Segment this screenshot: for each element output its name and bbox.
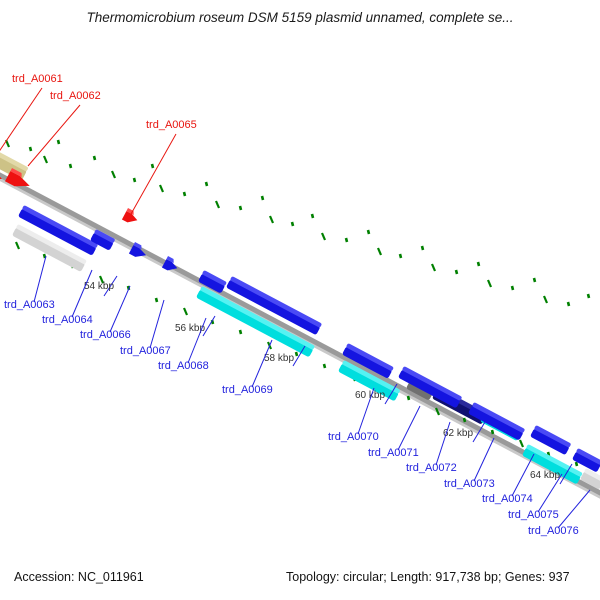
trna-tick[interactable]	[422, 246, 423, 250]
trna-tick[interactable]	[112, 171, 115, 178]
trna-tick[interactable]	[464, 418, 465, 422]
gene-label[interactable]: trd_A0070	[328, 431, 379, 443]
ruler-tick-label: 54 kbp	[84, 281, 114, 292]
gene-label[interactable]: trd_A0071	[368, 447, 419, 459]
trna-tick[interactable]	[488, 280, 491, 287]
gene-label-leader	[150, 300, 164, 348]
trna-tick[interactable]	[262, 196, 263, 200]
gene-label-leader	[28, 105, 80, 166]
trna-tick[interactable]	[492, 430, 493, 434]
trna-tick[interactable]	[346, 238, 347, 242]
topology-label: Topology: circular; Length: 917,738 bp; …	[286, 570, 570, 584]
gene-label[interactable]: trd_A0073	[444, 478, 495, 490]
gene-label-leader	[110, 286, 130, 332]
trna-tick[interactable]	[312, 214, 313, 218]
ruler-tick-label: 64 kbp	[530, 470, 560, 481]
gene-label[interactable]: trd_A0076	[528, 525, 579, 537]
genome-map-canvas[interactable]: 54 kbp56 kbp58 kbp60 kbp62 kbp64 kbptrd_…	[0, 44, 600, 549]
trna-tick[interactable]	[432, 264, 435, 271]
accession-label: Accession: NC_011961	[14, 570, 144, 584]
title-bar: Thermomicrobium roseum DSM 5159 plasmid …	[0, 0, 600, 44]
trna-tick[interactable]	[534, 278, 535, 282]
genome-map-svg[interactable]: 54 kbp56 kbp58 kbp60 kbp62 kbp64 kbptrd_…	[0, 44, 600, 549]
trna-tick[interactable]	[322, 233, 325, 240]
ruler-tick-label: 56 kbp	[175, 323, 205, 334]
trna-tick[interactable]	[292, 222, 293, 226]
gene-label[interactable]: trd_A0066	[80, 329, 131, 341]
gene-label[interactable]: trd_A0061	[12, 73, 63, 85]
trna-tick[interactable]	[588, 294, 589, 298]
gene-label-leader	[34, 256, 46, 302]
gene-label[interactable]: trd_A0075	[508, 509, 559, 521]
trna-tick[interactable]	[184, 308, 187, 315]
trna-tick[interactable]	[456, 270, 457, 274]
trna-tick[interactable]	[296, 352, 297, 356]
gene-feature[interactable]	[572, 448, 600, 473]
trna-tick[interactable]	[544, 296, 547, 303]
trna-tick[interactable]	[478, 262, 479, 266]
gene-label[interactable]: trd_A0065	[146, 119, 197, 131]
gene-label[interactable]: trd_A0064	[42, 314, 93, 326]
trna-tick[interactable]	[368, 230, 369, 234]
gene-label[interactable]: trd_A0067	[120, 345, 171, 357]
trna-tick[interactable]	[270, 216, 273, 223]
trna-tick[interactable]	[568, 302, 569, 306]
gene-label-leader	[398, 406, 420, 450]
gene-label-leader	[474, 438, 494, 481]
trna-tick[interactable]	[156, 298, 157, 302]
trna-tick[interactable]	[134, 178, 135, 182]
trna-tick[interactable]	[408, 396, 409, 400]
status-bar: Accession: NC_011961 Topology: circular;…	[0, 549, 600, 600]
trna-tick[interactable]	[70, 164, 71, 168]
gene-label[interactable]: trd_A0068	[158, 360, 209, 372]
trna-tick[interactable]	[44, 254, 45, 258]
trna-tick[interactable]	[324, 364, 325, 368]
trna-tick[interactable]	[400, 254, 401, 258]
gene-body	[122, 211, 139, 226]
gene-label-leader	[558, 490, 590, 528]
gene-label[interactable]: trd_A0062	[50, 90, 101, 102]
trna-tick[interactable]	[216, 201, 219, 208]
trna-tick[interactable]	[512, 286, 513, 290]
trna-tick[interactable]	[184, 192, 185, 196]
trna-tick[interactable]	[240, 206, 241, 210]
gene-label-leader	[0, 88, 42, 156]
trna-tick[interactable]	[206, 182, 207, 186]
trna-tick[interactable]	[520, 440, 523, 447]
gene-label-leader	[131, 134, 176, 214]
gene-label[interactable]: trd_A0072	[406, 462, 457, 474]
ruler-tick-label: 58 kbp	[264, 353, 294, 364]
gene-label[interactable]: trd_A0074	[482, 493, 533, 505]
genome-viewer: Thermomicrobium roseum DSM 5159 plasmid …	[0, 0, 600, 600]
trna-tick[interactable]	[30, 147, 31, 151]
trna-tick[interactable]	[160, 185, 163, 192]
gene-label-group: trd_A0061trd_A0062trd_A0065trd_A0063trd_…	[0, 73, 590, 537]
trna-tick[interactable]	[152, 164, 153, 168]
trna-tick[interactable]	[44, 156, 47, 163]
trna-tick[interactable]	[576, 462, 577, 466]
gene-label[interactable]: trd_A0069	[222, 384, 273, 396]
page-title: Thermomicrobium roseum DSM 5159 plasmid …	[0, 10, 600, 25]
gene-label[interactable]: trd_A0063	[4, 299, 55, 311]
trna-tick[interactable]	[58, 140, 59, 144]
trna-tick[interactable]	[16, 242, 19, 249]
trna-tick[interactable]	[94, 156, 95, 160]
ruler-group: 54 kbp56 kbp58 kbp60 kbp62 kbp64 kbp	[84, 276, 572, 484]
trna-tick[interactable]	[378, 248, 381, 255]
gene-feature[interactable]	[122, 208, 140, 226]
trna-tick[interactable]	[240, 330, 241, 334]
gene-label-leader	[72, 270, 92, 317]
